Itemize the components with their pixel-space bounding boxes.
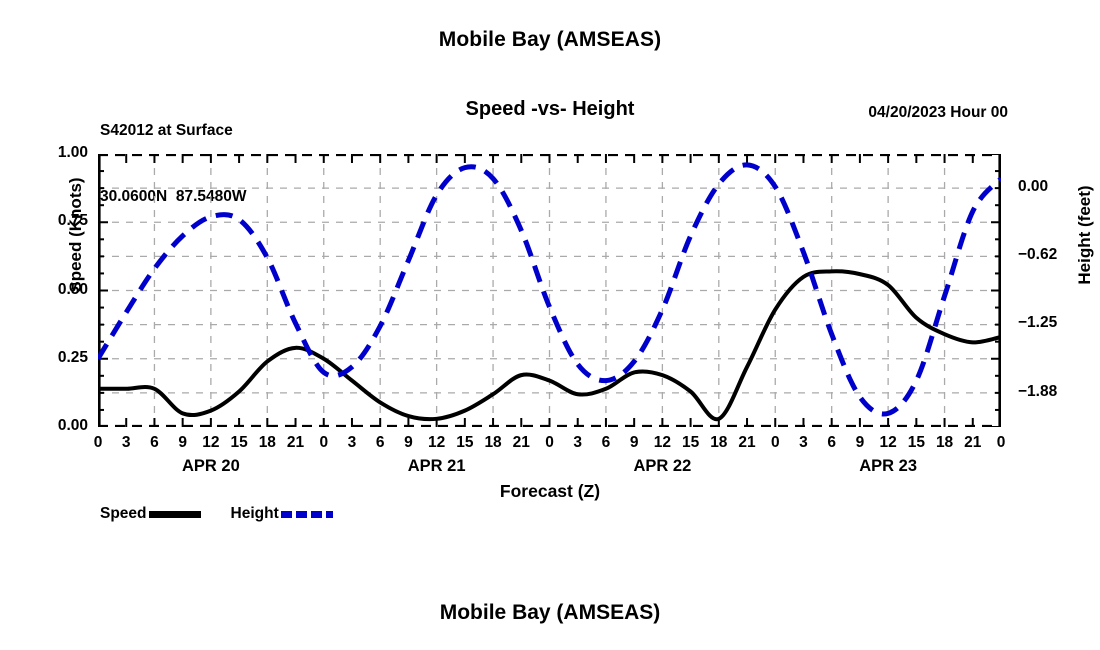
x-axis-tick-label: 9 (619, 434, 649, 452)
x-axis-tick-label: 18 (252, 434, 282, 452)
x-axis-tick-label: 12 (647, 434, 677, 452)
y-axis-left-tick-label: 1.00 (58, 144, 88, 162)
legend: Speed Height (100, 505, 333, 523)
y-axis-left-tick-label: 0.75 (58, 212, 88, 230)
x-axis-tick-label: 15 (224, 434, 254, 452)
y-axis-right-title: Height (feet) (1075, 135, 1095, 335)
legend-label-speed: Speed (100, 505, 147, 523)
x-axis-tick-label: 21 (281, 434, 311, 452)
x-axis-tick-label: 0 (83, 434, 113, 452)
plot-svg (98, 154, 1001, 427)
x-axis-tick-label: 3 (337, 434, 367, 452)
y-axis-left-title: Speed (Knots) (66, 135, 86, 335)
y-axis-right-tick-label: −1.25 (1018, 314, 1057, 332)
x-axis-tick-label: 12 (422, 434, 452, 452)
x-axis-tick-label: 12 (196, 434, 226, 452)
chart-page: Mobile Bay (AMSEAS) S42012 at Surface 30… (0, 0, 1100, 650)
y-axis-left-tick-label: 0.50 (58, 281, 88, 299)
station-name: S42012 at Surface (100, 120, 247, 142)
x-axis-tick-label: 18 (930, 434, 960, 452)
x-axis-tick-label: 3 (111, 434, 141, 452)
x-axis-tick-label: 21 (732, 434, 762, 452)
x-axis-tick-label: 9 (845, 434, 875, 452)
x-axis-tick-label: 0 (535, 434, 565, 452)
x-axis-tick-label: 9 (393, 434, 423, 452)
x-axis-tick-label: 21 (506, 434, 536, 452)
x-axis-tick-label: 15 (450, 434, 480, 452)
x-axis-tick-label: 15 (676, 434, 706, 452)
x-axis-tick-label: 18 (704, 434, 734, 452)
legend-item-height: Height (231, 505, 333, 523)
legend-item-speed: Speed (100, 505, 231, 523)
x-axis-tick-label: 6 (139, 434, 169, 452)
x-axis-tick-label: 0 (760, 434, 790, 452)
y-axis-left-tick-label: 0.00 (58, 417, 88, 435)
x-axis-title: Forecast (Z) (0, 481, 1100, 502)
x-axis-day-label: APR 23 (808, 457, 968, 476)
x-axis-tick-label: 0 (986, 434, 1016, 452)
y-axis-right-tick-label: −1.88 (1018, 383, 1057, 401)
x-axis-tick-label: 6 (365, 434, 395, 452)
x-axis-day-label: APR 20 (131, 457, 291, 476)
x-axis-tick-label: 12 (873, 434, 903, 452)
x-axis-tick-label: 21 (958, 434, 988, 452)
x-axis-day-label: APR 22 (582, 457, 742, 476)
x-axis-tick-label: 0 (309, 434, 339, 452)
y-axis-left-tick-label: 0.25 (58, 349, 88, 367)
y-axis-right-tick-label: 0.00 (1018, 178, 1048, 196)
page-title-bottom: Mobile Bay (AMSEAS) (0, 601, 1100, 625)
x-axis-tick-label: 3 (563, 434, 593, 452)
x-axis-day-label: APR 21 (357, 457, 517, 476)
plot-area (98, 154, 1001, 427)
legend-swatch-speed-icon (149, 511, 201, 518)
x-axis-tick-label: 6 (817, 434, 847, 452)
y-axis-right-tick-label: −0.62 (1018, 246, 1057, 264)
legend-swatch-height-icon (281, 511, 333, 518)
x-axis-tick-label: 15 (901, 434, 931, 452)
x-axis-tick-label: 6 (591, 434, 621, 452)
legend-label-height: Height (231, 505, 279, 523)
x-axis-tick-label: 3 (788, 434, 818, 452)
model-run-time: 04/20/2023 Hour 00 (868, 104, 1008, 122)
x-axis-tick-label: 9 (168, 434, 198, 452)
page-title-top: Mobile Bay (AMSEAS) (0, 28, 1100, 52)
x-axis-tick-label: 18 (478, 434, 508, 452)
